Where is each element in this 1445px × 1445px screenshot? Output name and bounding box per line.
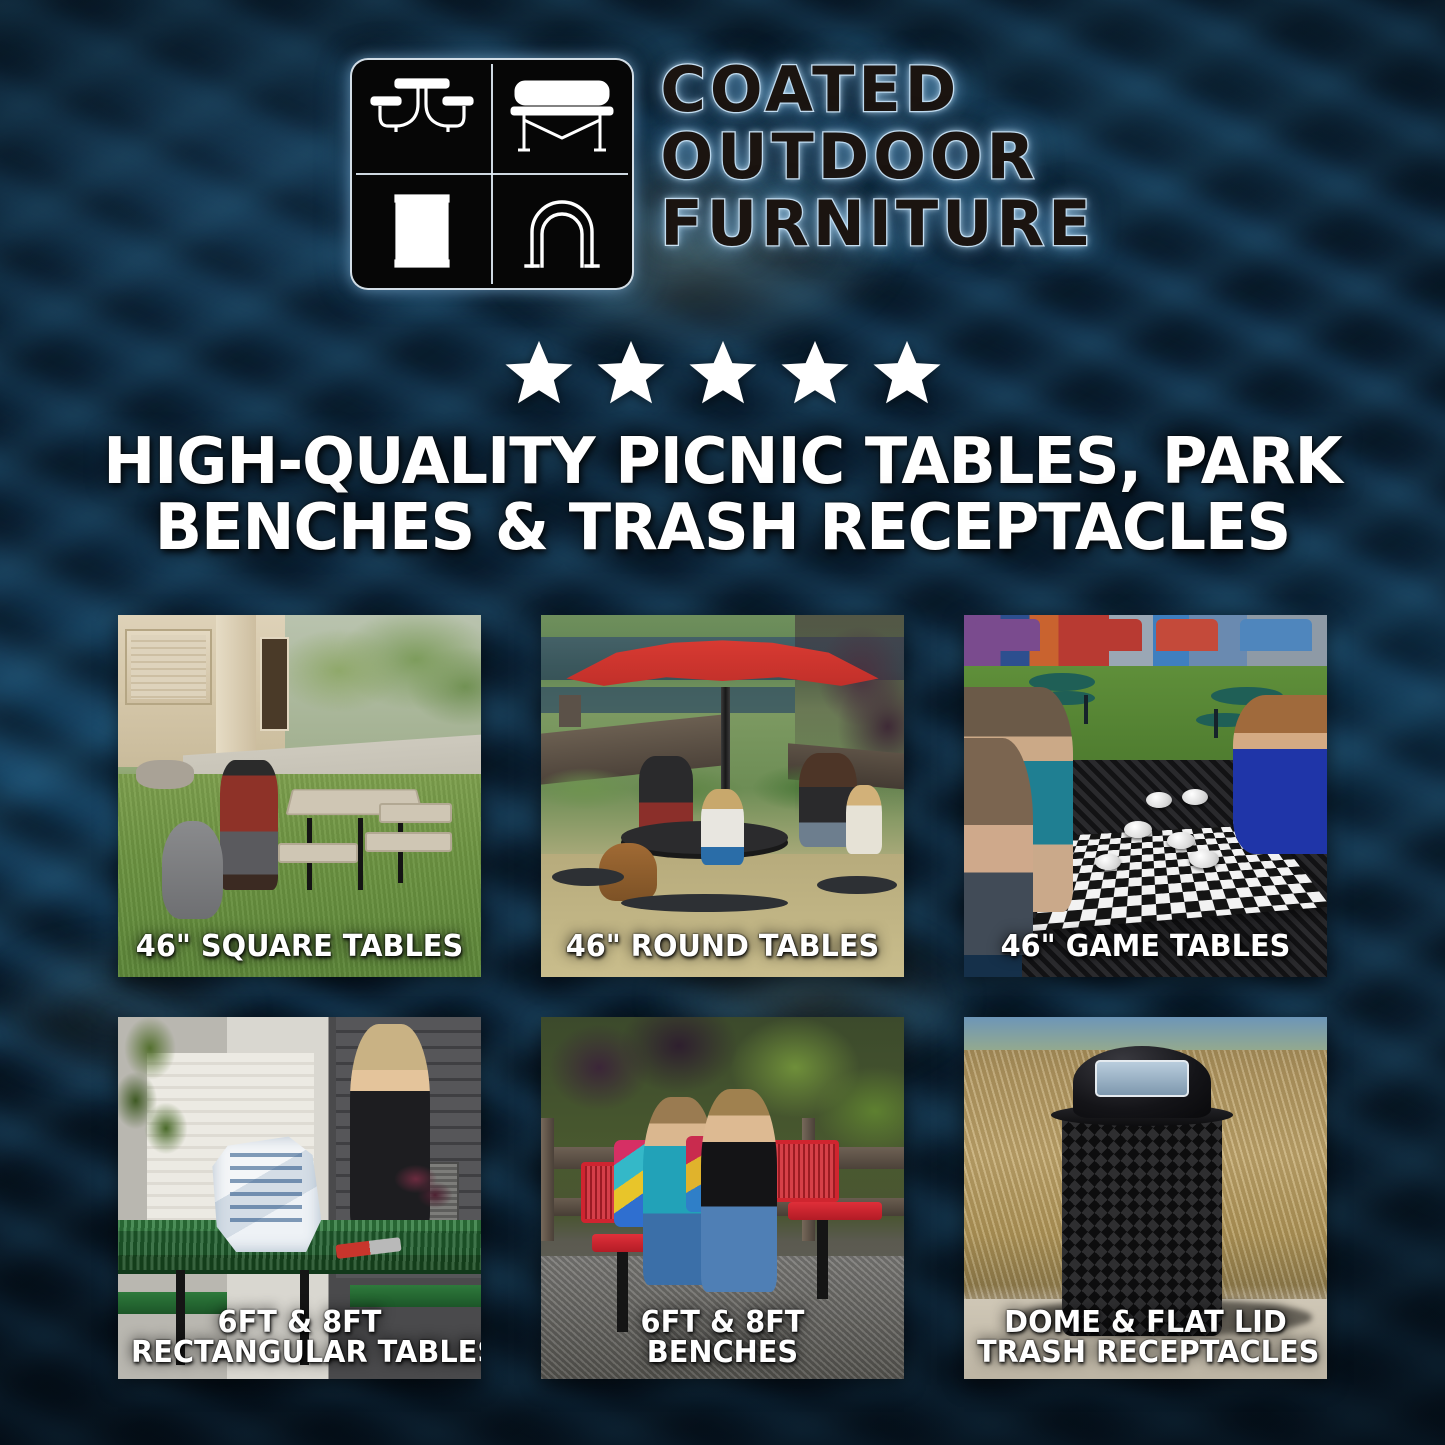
product-photo-round-tables [541, 615, 904, 977]
star-icon [503, 338, 575, 408]
product-caption: 6FT & 8FT BENCHES [547, 1308, 898, 1369]
product-photo-square-tables [118, 615, 481, 977]
star-icon [595, 338, 667, 408]
product-caption: 46" SQUARE TABLES [124, 932, 475, 963]
product-caption-line-1: 46" SQUARE TABLES [131, 932, 468, 963]
headline-line-1: HIGH-QUALITY PICNIC TABLES, PARK [80, 430, 1365, 496]
logo-wordmark: COATED OUTDOOR FURNITURE [660, 58, 1094, 254]
picnic-table-front-icon [352, 60, 492, 174]
product-card-trash-receptacles[interactable]: DOME & FLAT LID TRASH RECEPTACLES [964, 1017, 1327, 1379]
product-caption: 6FT & 8FT RECTANGULAR TABLES [124, 1308, 475, 1369]
product-grid: 46" SQUARE TABLES [118, 615, 1327, 1379]
logo-icon-grid [350, 58, 634, 290]
product-caption-line-1: 6FT & 8FT [554, 1308, 891, 1339]
picnic-table-side-icon [492, 60, 632, 174]
product-caption-line-2: BENCHES [554, 1338, 891, 1369]
product-photo-game-tables [964, 615, 1327, 977]
product-caption-line-1: 46" GAME TABLES [977, 932, 1314, 963]
product-caption: 46" ROUND TABLES [547, 932, 898, 963]
star-rating [0, 338, 1445, 408]
product-caption-line-1: 46" ROUND TABLES [554, 932, 891, 963]
star-icon [779, 338, 851, 408]
product-caption: DOME & FLAT LID TRASH RECEPTACLES [970, 1308, 1321, 1369]
page-title: HIGH-QUALITY PICNIC TABLES, PARK BENCHES… [60, 430, 1385, 562]
bike-rack-arch-icon [492, 174, 632, 288]
product-card-square-tables[interactable]: 46" SQUARE TABLES [118, 615, 481, 977]
brand-logo: COATED OUTDOOR FURNITURE [0, 58, 1445, 290]
product-caption-line-1: DOME & FLAT LID [977, 1308, 1314, 1339]
product-caption-line-2: TRASH RECEPTACLES [977, 1338, 1314, 1369]
logo-line-coated: COATED [660, 60, 960, 121]
product-caption-line-1: 6FT & 8FT [131, 1308, 468, 1339]
star-icon [871, 338, 943, 408]
logo-line-furniture: FURNITURE [660, 194, 1094, 255]
product-caption-line-2: RECTANGULAR TABLES [131, 1338, 468, 1369]
product-card-rectangular-tables[interactable]: 6FT & 8FT RECTANGULAR TABLES [118, 1017, 481, 1379]
headline-line-2: BENCHES & TRASH RECEPTACLES [80, 496, 1365, 562]
product-card-round-tables[interactable]: 46" ROUND TABLES [541, 615, 904, 977]
poster-content: COATED OUTDOOR FURNITURE HIGH-QUALITY PI… [0, 0, 1445, 1445]
product-card-benches[interactable]: 6FT & 8FT BENCHES [541, 1017, 904, 1379]
product-card-game-tables[interactable]: 46" GAME TABLES [964, 615, 1327, 977]
product-caption: 46" GAME TABLES [970, 932, 1321, 963]
trash-receptacle-icon [352, 174, 492, 288]
logo-line-outdoor: OUTDOOR [660, 127, 1038, 188]
star-icon [687, 338, 759, 408]
